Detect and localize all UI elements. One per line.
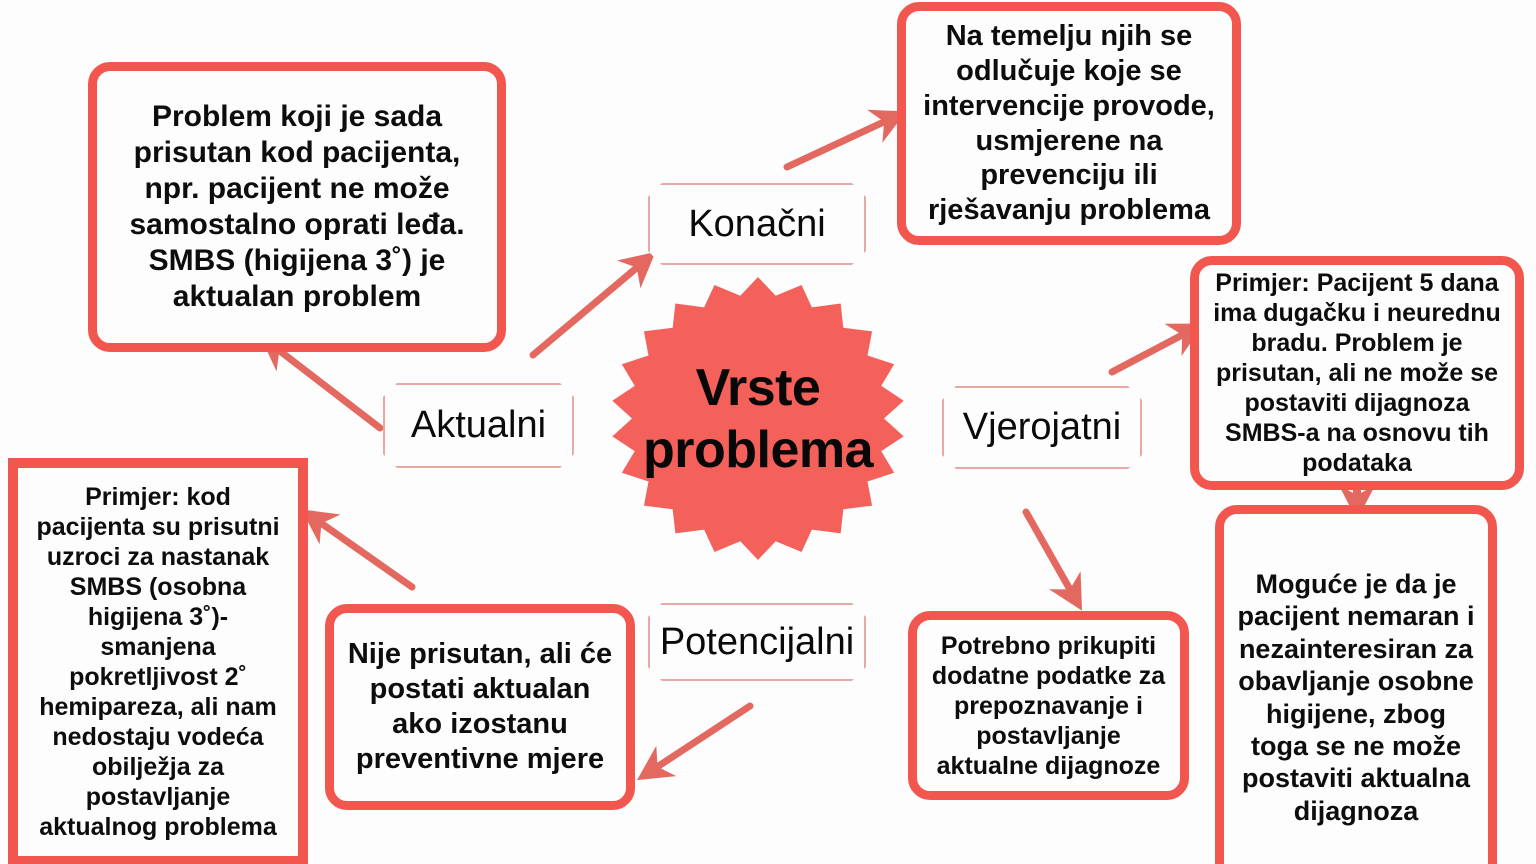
category-label-vjerojatni[interactable]: Vjerojatni: [942, 386, 1142, 469]
arrow-potencijalni-to-description: [654, 706, 750, 769]
content-box-vjerojatni-definition: Potrebno prikupiti dodatne podatke za pr…: [908, 611, 1189, 800]
center-label: Vrste problema: [643, 358, 873, 481]
category-label-aktualni[interactable]: Aktualni: [383, 383, 574, 468]
content-box-vjerojatni-conclusion: Moguće je da je pacijent nemaran i nezai…: [1215, 505, 1497, 864]
arrow-konacni-to-description: [787, 120, 888, 167]
content-box-vjerojatni-example: Primjer: Pacijent 5 dana ima dugačku i n…: [1190, 256, 1524, 490]
category-label-potencijalni[interactable]: Potencijalni: [648, 603, 866, 681]
content-box-potencijalni-definition: Nije prisutan, ali će postati aktualan a…: [325, 604, 635, 810]
arrow-aktualni-to-example: [318, 521, 412, 587]
content-box-aktualni-definition: Problem koji je sada prisutan kod pacije…: [88, 62, 506, 352]
center-label-line1: Vrste: [643, 358, 873, 419]
arrow-aktualni-to-description: [276, 348, 380, 428]
arrow-vjerojatni-to-description: [1026, 512, 1072, 593]
center-label-line2: problema: [643, 420, 873, 481]
center-starburst: Vrste problema: [588, 277, 928, 562]
content-box-konacni-definition: Na temelju njih se odlučuje koje se inte…: [897, 2, 1241, 245]
category-label-konacni[interactable]: Konačni: [648, 183, 866, 265]
arrow-vjerojatni-to-example: [1112, 333, 1186, 372]
mindmap-canvas: Vrste problema Konačni Aktualni Vjerojat…: [0, 0, 1536, 864]
content-box-aktualni-example: Primjer: kod pacijenta su prisutni uzroc…: [8, 458, 308, 864]
